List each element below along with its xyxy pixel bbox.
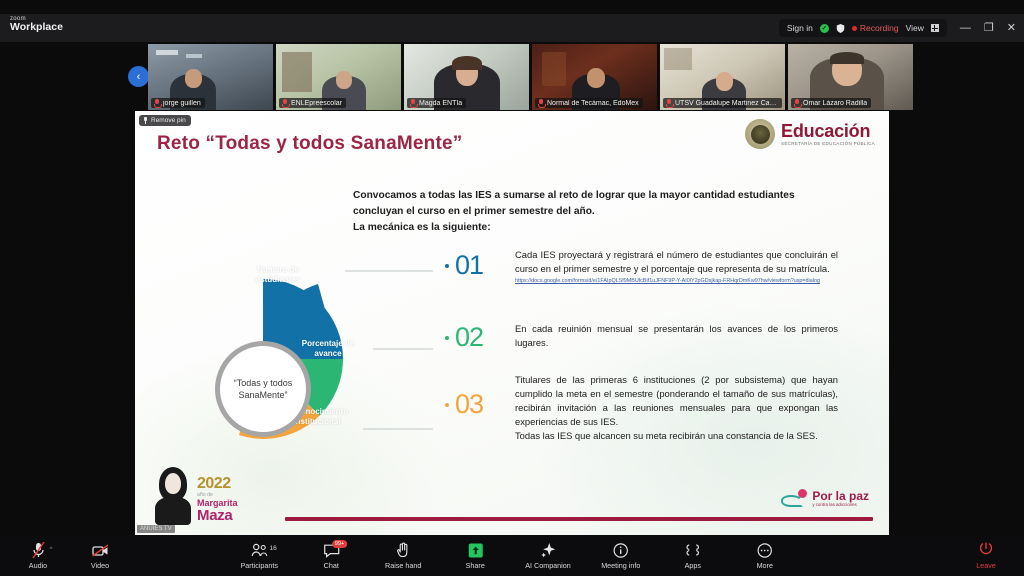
por-la-paz-logo: Por la paz y contra las adicciones [781,489,869,509]
participant-name-badge: Normal de Tecámac, EdoMex [535,98,643,108]
participant-tile[interactable]: Omar Lázaro Radilla [788,44,913,110]
participant-tile[interactable]: UTSV Guadalupe Martinez Caise... [660,44,785,110]
participant-tiles: jorge guillen ENLEpreescolar [148,44,913,110]
item-body: Cada IES proyectará y registrará el núme… [515,249,838,274]
slide-title: Reto “Todas y todos SanaMente” [157,133,462,155]
pin-icon [143,117,148,124]
participant-name-badge: Omar Lázaro Radilla [791,98,871,108]
minimize-button[interactable]: — [960,23,971,34]
participants-icon: 16 [251,542,268,559]
paz-line-1: Por la paz [812,490,869,502]
zoom-brand-logo: zoom Workplace [10,16,63,33]
item-number: 02 [455,324,483,351]
audio-label: Audio [29,561,47,570]
participant-tile[interactable]: jorge guillen [148,44,273,110]
item-bullet-icon [445,264,449,268]
paz-line-2: y contra las adicciones [812,503,869,507]
encryption-shield-icon[interactable] [836,24,845,33]
slide-footer-red-bar [285,517,873,521]
meeting-info-label: Meeting info [601,561,640,570]
item-text: Titulares de las primeras 6 institucione… [515,373,838,444]
margarita-maza-badge: 2022 año de Margarita Maza [155,467,238,525]
titlebar-right-controls: Sign in ✓ Recording View — ❐ ✕ [779,18,1016,38]
zoom-meeting-window: zoom Workplace Sign in ✓ Recording View … [0,0,1024,576]
item-bullet-icon [445,403,449,407]
por-la-paz-text: Por la paz y contra las adicciones [812,490,869,507]
item-bullet-icon [445,336,449,340]
maximize-button[interactable]: ❐ [984,23,994,34]
toolbar-center-group: 16 Participants 99+ Chat [237,542,787,570]
sanamente-donut-diagram: Número de estudiantes Porcentaje de avan… [213,229,433,489]
leave-label: Leave [976,561,996,570]
ai-sparkle-icon [540,542,556,559]
leave-icon [979,542,993,559]
microphone-muted-icon: ^ [32,542,45,559]
share-label: Share [466,561,485,570]
chat-unread-badge: 99+ [332,540,347,548]
share-screen-button[interactable]: Share [453,542,497,570]
participants-label: Participants [240,561,278,570]
participant-name-badge: Magda ENTIa [407,98,466,108]
participant-name-badge: jorge guillen [151,98,205,108]
chat-bubble-icon: 99+ [323,542,340,559]
sep-educacion-logo: Educación SECRETARÍA DE EDUCACIÓN PÚBLIC… [745,119,875,149]
apps-button[interactable]: Apps [671,542,715,570]
raise-hand-label: Raise hand [385,561,421,570]
participants-button[interactable]: 16 Participants [237,542,281,570]
microphone-muted-icon [282,99,288,107]
window-title-bar: zoom Workplace Sign in ✓ Recording View … [0,14,1024,42]
view-layout-icon[interactable] [931,24,939,32]
raise-hand-button[interactable]: Raise hand [381,542,425,570]
participant-name: Magda ENTIa [419,100,462,107]
microphone-muted-icon [154,99,160,107]
participant-tile[interactable]: Normal de Tecámac, EdoMex [532,44,657,110]
margarita-maza-portrait-icon [155,467,191,525]
anuies-tv-watermark: ANUIES TV [137,525,175,533]
participant-tile[interactable]: Magda ENTIa [404,44,529,110]
audio-options-caret[interactable]: ^ [50,547,53,553]
recording-indicator[interactable]: Recording [852,23,899,33]
participant-name: jorge guillen [163,100,201,107]
more-ellipsis-icon [757,542,772,559]
google-form-link[interactable]: https://docs.google.com/forms/d/e/1FAIpQ… [515,278,838,286]
microphone-muted-icon [794,99,800,107]
shared-screen-stage[interactable]: Remove pin Reto “Todas y todos SanaMente… [135,111,889,535]
participant-name: Normal de Tecámac, EdoMex [547,100,639,107]
recording-label: Recording [860,23,899,33]
ai-companion-label: AI Companion [525,561,571,570]
info-circle-icon [613,542,628,559]
raised-hand-icon [396,542,410,559]
toolbar-right-group: Leave [964,542,1008,570]
educacion-title: Educación [781,122,875,140]
connection-status-icon[interactable]: ✓ [820,24,829,33]
maza-name-last: Maza [197,508,238,523]
participant-tile[interactable]: ENLEpreescolar [276,44,401,110]
view-button[interactable]: View [906,23,924,33]
mexican-eagle-seal-icon [745,119,775,149]
titlebar-status-pill: Sign in ✓ Recording View [779,19,947,37]
share-screen-icon [468,542,483,559]
window-controls: — ❐ ✕ [960,23,1016,34]
more-options-button[interactable]: More [743,542,787,570]
educacion-subtitle: SECRETARÍA DE EDUCACIÓN PÚBLICA [781,142,875,147]
apps-grid-icon [685,542,700,559]
maza-year: 2022 [197,476,238,492]
ai-companion-button[interactable]: AI Companion [525,542,571,570]
participant-name: UTSV Guadalupe Martinez Caise... [675,100,778,107]
more-label: More [757,561,773,570]
meeting-toolbar: ^ Audio Video [0,535,1024,576]
item-text: Cada IES proyectará y registrará el núme… [515,248,838,286]
audio-button[interactable]: ^ Audio [16,542,60,570]
educacion-wordmark: Educación SECRETARÍA DE EDUCACIÓN PÚBLIC… [781,122,875,147]
item-number: 01 [455,252,483,279]
microphone-muted-icon [538,99,544,107]
video-label: Video [91,561,109,570]
dove-icon [781,489,807,509]
item-number: 03 [455,391,483,418]
video-button[interactable]: Video [78,542,122,570]
camera-off-icon [92,542,109,559]
donut-center-label: “Todas y todos SanaMente” [215,341,311,437]
close-button[interactable]: ✕ [1007,23,1016,34]
chat-button[interactable]: 99+ Chat [309,542,353,570]
participant-filmstrip: ‹ › jorge guillen [0,44,1024,110]
remove-pin-button[interactable]: Remove pin [139,115,191,126]
segment-label-estudiantes: Número de estudiantes [239,265,317,286]
microphone-muted-icon [666,99,672,107]
sign-in-button[interactable]: Sign in [787,23,813,33]
participant-name: ENLEpreescolar [291,100,342,107]
segment-label-porcentaje: Porcentaje de avance [291,339,365,360]
participant-name: Omar Lázaro Radilla [803,100,867,107]
chat-label: Chat [324,561,339,570]
item-text: En cada reuinión mensual se presentarán … [515,322,838,350]
participant-name-badge: UTSV Guadalupe Martinez Caise... [663,98,782,108]
recording-dot-icon [852,26,857,31]
participants-count: 16 [269,545,276,552]
microphone-muted-icon [410,99,416,107]
remove-pin-label: Remove pin [151,117,186,124]
leave-meeting-button[interactable]: Leave [964,542,1008,570]
participant-name-badge: ENLEpreescolar [279,98,346,108]
meeting-info-button[interactable]: Meeting info [599,542,643,570]
margarita-maza-text: 2022 año de Margarita Maza [197,476,238,525]
toolbar-left-group: ^ Audio Video [16,542,122,570]
apps-label: Apps [685,561,701,570]
brand-workplace-text: Workplace [10,22,63,33]
filmstrip-prev-arrow[interactable]: ‹ [128,66,149,87]
